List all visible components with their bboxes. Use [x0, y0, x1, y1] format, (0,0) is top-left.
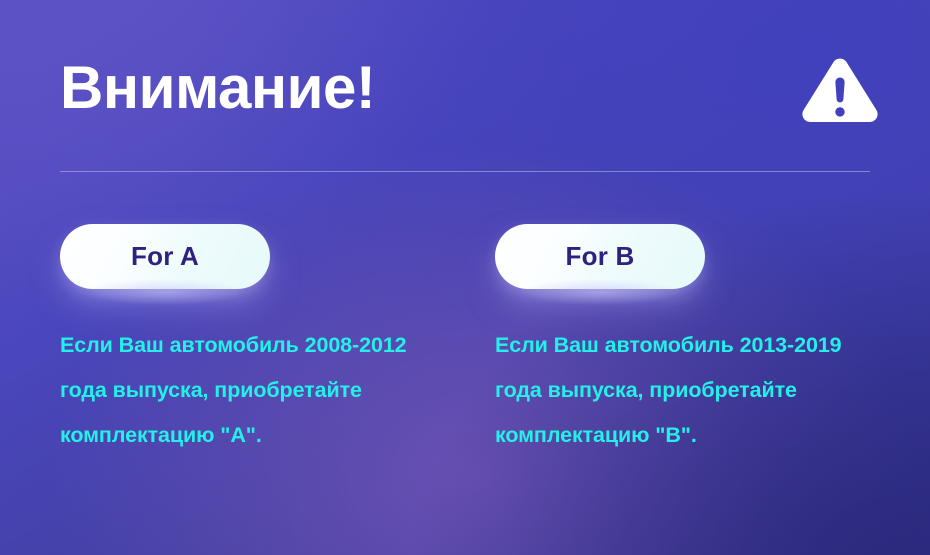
banner-header: Внимание!	[0, 0, 930, 172]
option-a-description: Если Ваш автомобиль 2008-2012 года выпус…	[60, 323, 452, 458]
for-a-button[interactable]: For A	[60, 224, 270, 289]
option-b-description: Если Ваш автомобиль 2013-2019 года выпус…	[495, 323, 887, 458]
option-column-a: For A Если Ваш автомобиль 2008-2012 года…	[60, 172, 460, 458]
for-b-button[interactable]: For B	[495, 224, 705, 289]
warning-triangle-icon	[801, 58, 879, 126]
option-column-b: For B Если Ваш автомобиль 2013-2019 года…	[495, 172, 895, 458]
options-columns: For A Если Ваш автомобиль 2008-2012 года…	[0, 172, 930, 555]
page-title: Внимание!	[60, 52, 375, 124]
warning-banner: Внимание! For A Если Ваш автомобиль 2008…	[0, 0, 930, 555]
